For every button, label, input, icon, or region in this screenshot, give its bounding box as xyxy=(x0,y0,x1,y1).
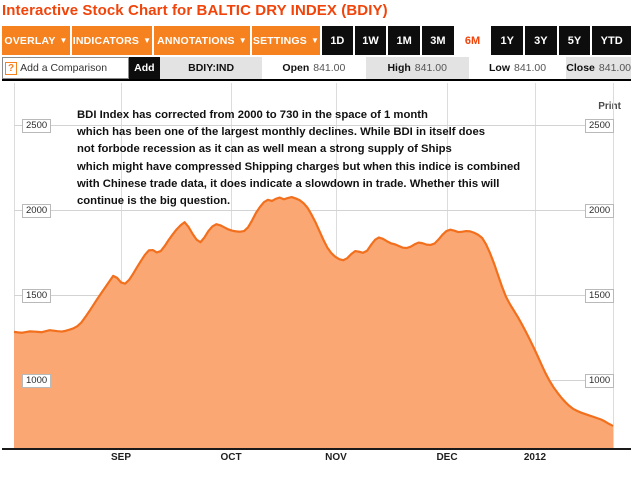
menu-label: SETTINGS xyxy=(253,35,307,47)
range-tab-ytd[interactable]: YTD xyxy=(592,26,631,55)
range-tab-1w[interactable]: 1W xyxy=(355,26,389,55)
chevron-down-icon: ▼ xyxy=(60,37,68,45)
x-tick-label: NOV xyxy=(325,452,347,463)
menu-label: ANNOTATIONS xyxy=(157,35,235,47)
menu-overlay[interactable]: OVERLAY▼ xyxy=(2,26,72,55)
range-tab-1m[interactable]: 1M xyxy=(388,26,422,55)
chevron-down-icon: ▼ xyxy=(143,37,151,45)
chart-toolbar: OVERLAY▼INDICATORS▼ANNOTATIONS▼SETTINGS▼… xyxy=(2,26,631,55)
quote-open-value: 841.00 xyxy=(313,62,345,74)
range-tab-1y[interactable]: 1Y xyxy=(491,26,525,55)
menu-label: INDICATORS xyxy=(73,35,139,47)
help-icon[interactable]: ? xyxy=(5,62,17,75)
symbol-text: BDIY:IND xyxy=(188,62,234,74)
quote-close-value: 841.00 xyxy=(599,62,631,74)
quote-close-label: Close xyxy=(566,62,595,74)
range-tab-6m[interactable]: 6M xyxy=(456,26,492,55)
add-comparison-button[interactable]: Add xyxy=(129,57,160,79)
add-comparison-placeholder: Add a Comparison xyxy=(20,62,107,74)
quote-open-label: Open xyxy=(282,62,309,74)
menu-label: OVERLAY xyxy=(4,35,55,47)
x-tick-label: SEP xyxy=(111,452,131,463)
chevron-down-icon: ▼ xyxy=(239,37,247,45)
quote-low-label: Low xyxy=(489,62,510,74)
range-tab-3m[interactable]: 3M xyxy=(422,26,456,55)
menu-indicators[interactable]: INDICATORS▼ xyxy=(72,26,154,55)
chevron-down-icon: ▼ xyxy=(311,37,319,45)
y-tick-label-left: 1500 xyxy=(22,289,51,303)
quote-bar: ? Add a Comparison Add BDIY:IND Open 841… xyxy=(2,57,631,81)
menu-annotations[interactable]: ANNOTATIONS▼ xyxy=(154,26,252,55)
quote-high-label: High xyxy=(387,62,410,74)
x-tick-label: OCT xyxy=(220,452,241,463)
chart-annotation-text: BDI Index has corrected from 2000 to 730… xyxy=(77,107,597,210)
range-tab-5y[interactable]: 5Y xyxy=(559,26,593,55)
x-tick-label: DEC xyxy=(436,452,457,463)
quote-high-value: 841.00 xyxy=(415,62,447,74)
series-area-fill xyxy=(14,197,613,448)
interactive-stock-chart-app: Interactive Stock Chart for BALTIC DRY I… xyxy=(0,0,633,482)
y-tick-label-left: 2000 xyxy=(22,204,51,218)
quote-close: Close 841.00 xyxy=(566,57,631,79)
y-tick-label-right: 1000 xyxy=(585,374,614,388)
page-title: Interactive Stock Chart for BALTIC DRY I… xyxy=(2,2,388,19)
quote-open: Open 841.00 xyxy=(262,57,365,79)
y-tick-label-right: 1500 xyxy=(585,289,614,303)
y-tick-label-left: 1000 xyxy=(22,374,51,388)
add-comparison-input[interactable]: ? Add a Comparison xyxy=(2,57,129,79)
quote-low-value: 841.00 xyxy=(514,62,546,74)
x-tick-label: 2012 xyxy=(524,452,546,463)
range-tab-3y[interactable]: 3Y xyxy=(525,26,559,55)
range-tab-1d[interactable]: 1D xyxy=(322,26,355,55)
symbol-label: BDIY:IND xyxy=(160,57,262,79)
quote-low: Low 841.00 xyxy=(469,57,566,79)
menu-settings[interactable]: SETTINGS▼ xyxy=(252,26,322,55)
quote-high: High 841.00 xyxy=(366,57,469,79)
x-axis-line xyxy=(2,448,631,450)
y-tick-label-left: 2500 xyxy=(22,119,51,133)
chart-area: Print 1000150020002500 1000150020002500 … xyxy=(2,83,631,480)
